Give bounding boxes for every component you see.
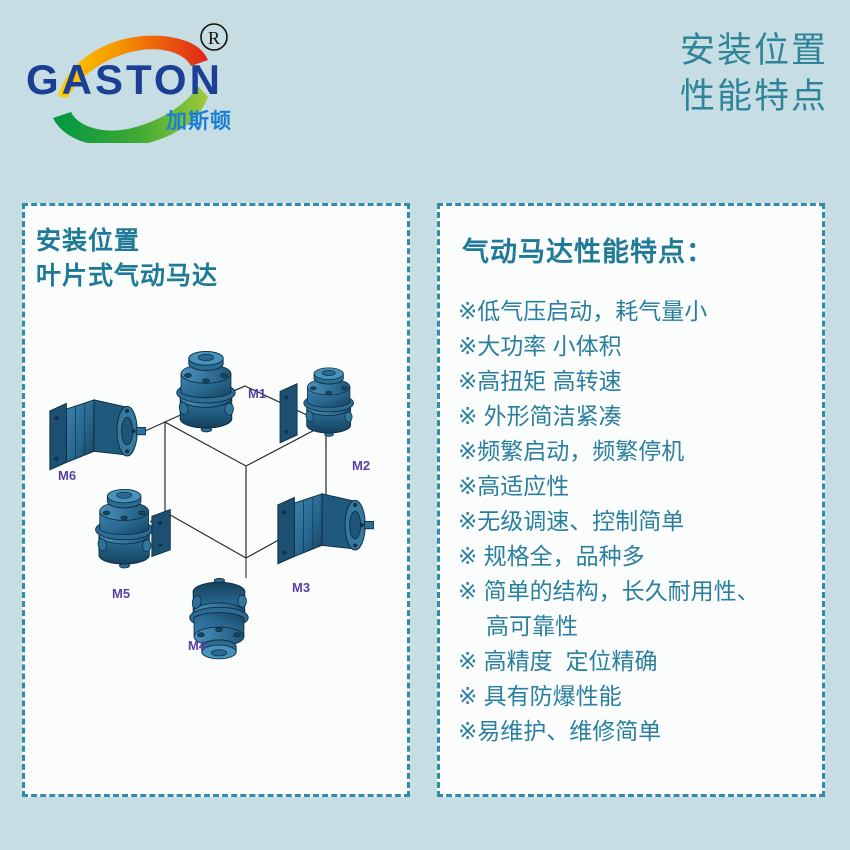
motor-label-m2: M2 xyxy=(352,458,370,473)
feature-item: ※ 高精度 定位精确 xyxy=(458,644,826,679)
feature-item: ※大功率 小体积 xyxy=(458,329,826,364)
motor-label-m6: M6 xyxy=(58,468,76,483)
page-header: GASTON 加斯顿 R 安装位置 性能特点 xyxy=(0,0,850,175)
feature-item: ※无级调速、控制简单 xyxy=(458,504,826,539)
feature-item: ※易维护、维修简单 xyxy=(458,714,826,749)
feature-item: ※ 外形简洁紧凑 xyxy=(458,399,826,434)
header-title-line-2: 性能特点 xyxy=(680,74,828,120)
motor-label-m4: M4 xyxy=(188,638,207,653)
isometric-cube-diagram: M1 M2 M3 M4 M5 M6 xyxy=(30,340,402,690)
motor-m5 xyxy=(96,489,171,568)
logo-chinese-name: 加斯顿 xyxy=(165,109,232,133)
left-heading-line-1: 安装位置 xyxy=(36,224,218,259)
mounting-orientation-diagram: M1 M2 M3 M4 M5 M6 xyxy=(30,340,402,690)
motor-m1 xyxy=(177,351,235,431)
left-panel-heading: 安装位置 叶片式气动马达 xyxy=(36,224,218,294)
feature-item: ※ 具有防爆性能 xyxy=(458,679,826,714)
brand-logo: GASTON 加斯顿 R xyxy=(18,18,248,143)
motor-m3 xyxy=(278,494,374,564)
feature-item: ※频繁启动，频繁停机 xyxy=(458,434,826,469)
motor-m2 xyxy=(280,368,354,443)
feature-item: ※ 简单的结构，长久耐用性、 xyxy=(458,574,826,609)
gaston-logo-icon: GASTON 加斯顿 R xyxy=(18,18,248,143)
motor-label-m3: M3 xyxy=(292,580,310,595)
header-title-line-1: 安装位置 xyxy=(680,28,828,74)
header-title: 安装位置 性能特点 xyxy=(680,28,828,120)
svg-text:R: R xyxy=(208,28,220,48)
motor-m6 xyxy=(50,400,146,470)
feature-item: ※高扭矩 高转速 xyxy=(458,364,826,399)
left-heading-line-2: 叶片式气动马达 xyxy=(36,259,218,294)
logo-wordmark: GASTON xyxy=(26,56,223,103)
right-panel-heading: 气动马达性能特点： xyxy=(462,230,714,269)
motor-label-m1: M1 xyxy=(248,386,266,401)
motor-label-m5: M5 xyxy=(112,586,130,601)
feature-item: ※低气压启动，耗气量小 xyxy=(458,294,826,329)
svg-text:GASTON: GASTON xyxy=(26,56,223,103)
feature-item: ※ 规格全，品种多 xyxy=(458,539,826,574)
feature-list: ※低气压启动，耗气量小 ※大功率 小体积 ※高扭矩 高转速 ※ 外形简洁紧凑 ※… xyxy=(458,294,826,749)
feature-item: ※高适应性 xyxy=(458,469,826,504)
registered-trademark-icon: R xyxy=(201,24,227,50)
feature-item-continuation: 高可靠性 xyxy=(458,609,826,644)
